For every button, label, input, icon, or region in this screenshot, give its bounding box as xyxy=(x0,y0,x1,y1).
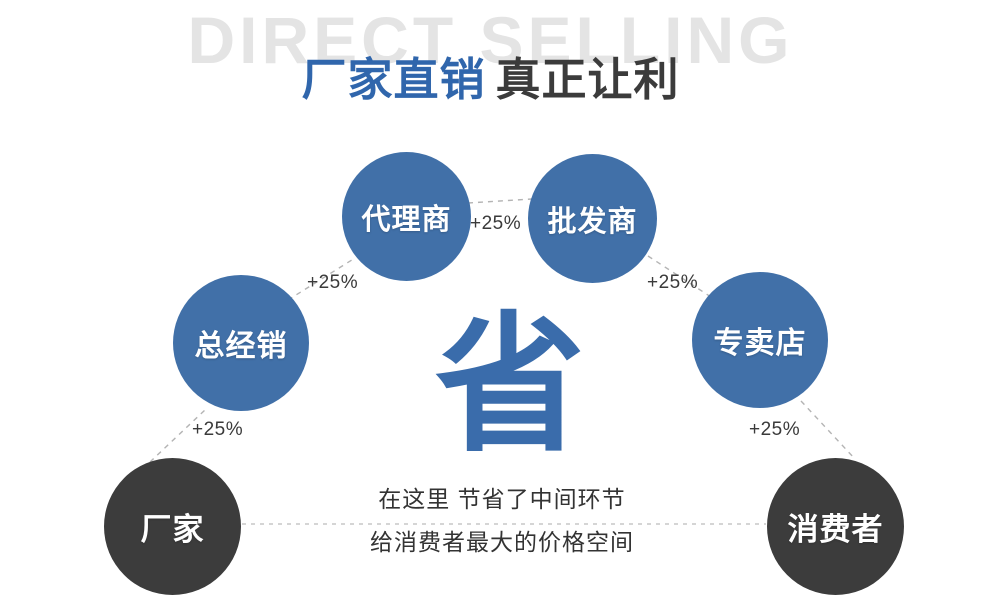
node-manufacturer[interactable]: 厂家 xyxy=(104,458,241,595)
node-manufacturer-label: 厂家 xyxy=(141,504,205,549)
markup-label-store-consumer: +25% xyxy=(749,419,800,441)
node-store[interactable]: 专卖店 xyxy=(692,272,828,408)
savings-glyph: 省 xyxy=(425,300,595,470)
markup-label-wholesaler-store: +25% xyxy=(647,272,698,294)
node-distributor-label: 总经销 xyxy=(195,321,288,365)
connector-agent-wholesaler xyxy=(468,199,532,203)
bottom-caption: 在这里 节省了中间环节 给消费者最大的价格空间 xyxy=(262,478,742,564)
markup-label-agent-wholesaler: +25% xyxy=(470,213,521,235)
node-consumer-label: 消费者 xyxy=(788,504,884,549)
node-agent-label: 代理商 xyxy=(361,196,451,238)
node-distributor[interactable]: 总经销 xyxy=(173,275,309,411)
caption-line-2: 给消费者最大的价格空间 xyxy=(262,521,742,564)
markup-label-manufacturer-distributor: +25% xyxy=(192,419,243,441)
caption-line-1: 在这里 节省了中间环节 xyxy=(262,478,742,521)
markup-label-distributor-agent: +25% xyxy=(307,272,358,294)
infographic-canvas: DIRECT SELLING 厂家直销真正让利 厂家 总经销 代理商 xyxy=(0,0,981,607)
connector-store-consumer xyxy=(801,401,855,459)
node-consumer[interactable]: 消费者 xyxy=(767,458,904,595)
node-wholesaler[interactable]: 批发商 xyxy=(528,154,657,283)
node-wholesaler-label: 批发商 xyxy=(547,198,637,240)
node-agent[interactable]: 代理商 xyxy=(342,152,471,281)
node-store-label: 专卖店 xyxy=(714,318,807,362)
